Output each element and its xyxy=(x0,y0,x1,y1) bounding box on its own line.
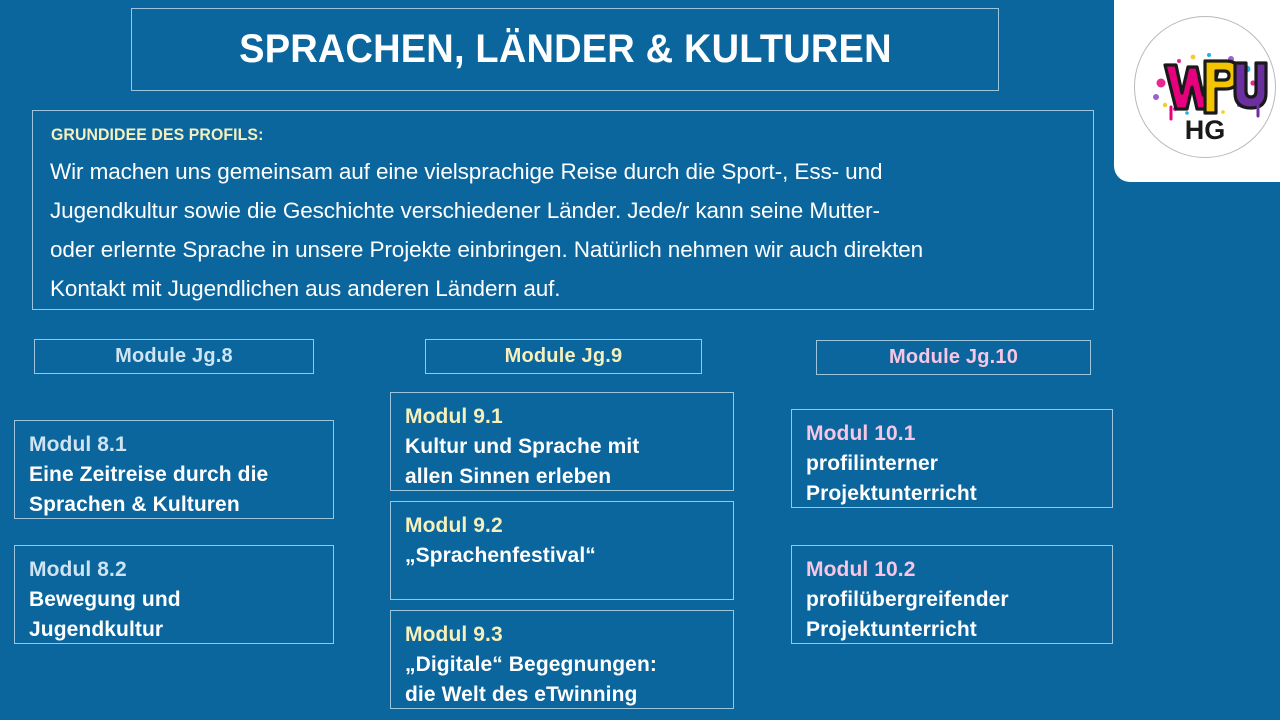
column-header-jg8: Module Jg.8 xyxy=(34,339,314,374)
grundidee-body: Wir machen uns gemeinsam auf eine vielsp… xyxy=(50,152,1079,308)
module-code: Modul 10.2 xyxy=(806,555,1112,585)
wpu-hg-logo-icon: HG xyxy=(1134,16,1276,158)
module-line: allen Sinnen erleben xyxy=(405,462,733,492)
module-card-8-2: Modul 8.2 Bewegung und Jugendkultur xyxy=(14,545,334,644)
module-code: Modul 8.1 xyxy=(29,430,333,460)
column-header-label: Module Jg.9 xyxy=(505,345,623,368)
grundidee-line: Jugendkultur sowie die Geschichte versch… xyxy=(50,191,1079,230)
module-code: Modul 9.1 xyxy=(405,402,733,432)
module-line: profilinterner xyxy=(806,449,1112,479)
module-line: „Sprachenfestival“ xyxy=(405,541,733,571)
module-code: Modul 10.1 xyxy=(806,419,1112,449)
module-line: Sprachen & Kulturen xyxy=(29,490,333,520)
column-header-label: Module Jg.8 xyxy=(115,345,233,368)
module-line: die Welt des eTwinning xyxy=(405,680,733,710)
grundidee-box: GRUNDIDEE DES PROFILS: Wir machen uns ge… xyxy=(32,110,1094,310)
page-title: SPRACHEN, LÄNDER & KULTUREN xyxy=(239,27,892,72)
title-box: SPRACHEN, LÄNDER & KULTUREN xyxy=(131,8,999,91)
grundidee-line: Wir machen uns gemeinsam auf eine vielsp… xyxy=(50,152,1079,191)
module-card-8-1: Modul 8.1 Eine Zeitreise durch die Sprac… xyxy=(14,420,334,519)
column-header-jg9: Module Jg.9 xyxy=(425,339,702,374)
module-card-9-2: Modul 9.2 „Sprachenfestival“ xyxy=(390,501,734,600)
module-card-10-2: Modul 10.2 profilübergreifender Projektu… xyxy=(791,545,1113,644)
module-line: Projektunterricht xyxy=(806,479,1112,509)
module-code: Modul 9.3 xyxy=(405,620,733,650)
module-line: „Digitale“ Begegnungen: xyxy=(405,650,733,680)
column-header-label: Module Jg.10 xyxy=(889,346,1018,369)
module-line: Bewegung und xyxy=(29,585,333,615)
module-card-9-3: Modul 9.3 „Digitale“ Begegnungen: die We… xyxy=(390,610,734,709)
module-line: Eine Zeitreise durch die xyxy=(29,460,333,490)
grundidee-heading: GRUNDIDEE DES PROFILS: xyxy=(51,126,1038,145)
grundidee-line: oder erlernte Sprache in unsere Projekte… xyxy=(50,230,1079,269)
module-code: Modul 8.2 xyxy=(29,555,333,585)
column-header-jg10: Module Jg.10 xyxy=(816,340,1091,375)
module-line: Kultur und Sprache mit xyxy=(405,432,733,462)
module-line: Projektunterricht xyxy=(806,615,1112,645)
module-line: profilübergreifender xyxy=(806,585,1112,615)
grundidee-line: Kontakt mit Jugendlichen aus anderen Län… xyxy=(50,269,1079,308)
slide-canvas: SPRACHEN, LÄNDER & KULTUREN GRUNDIDEE DE… xyxy=(0,0,1280,720)
svg-text:HG: HG xyxy=(1185,115,1226,145)
module-card-10-1: Modul 10.1 profilinterner Projektunterri… xyxy=(791,409,1113,508)
module-line: Jugendkultur xyxy=(29,615,333,645)
module-card-9-1: Modul 9.1 Kultur und Sprache mit allen S… xyxy=(390,392,734,491)
module-code: Modul 9.2 xyxy=(405,511,733,541)
